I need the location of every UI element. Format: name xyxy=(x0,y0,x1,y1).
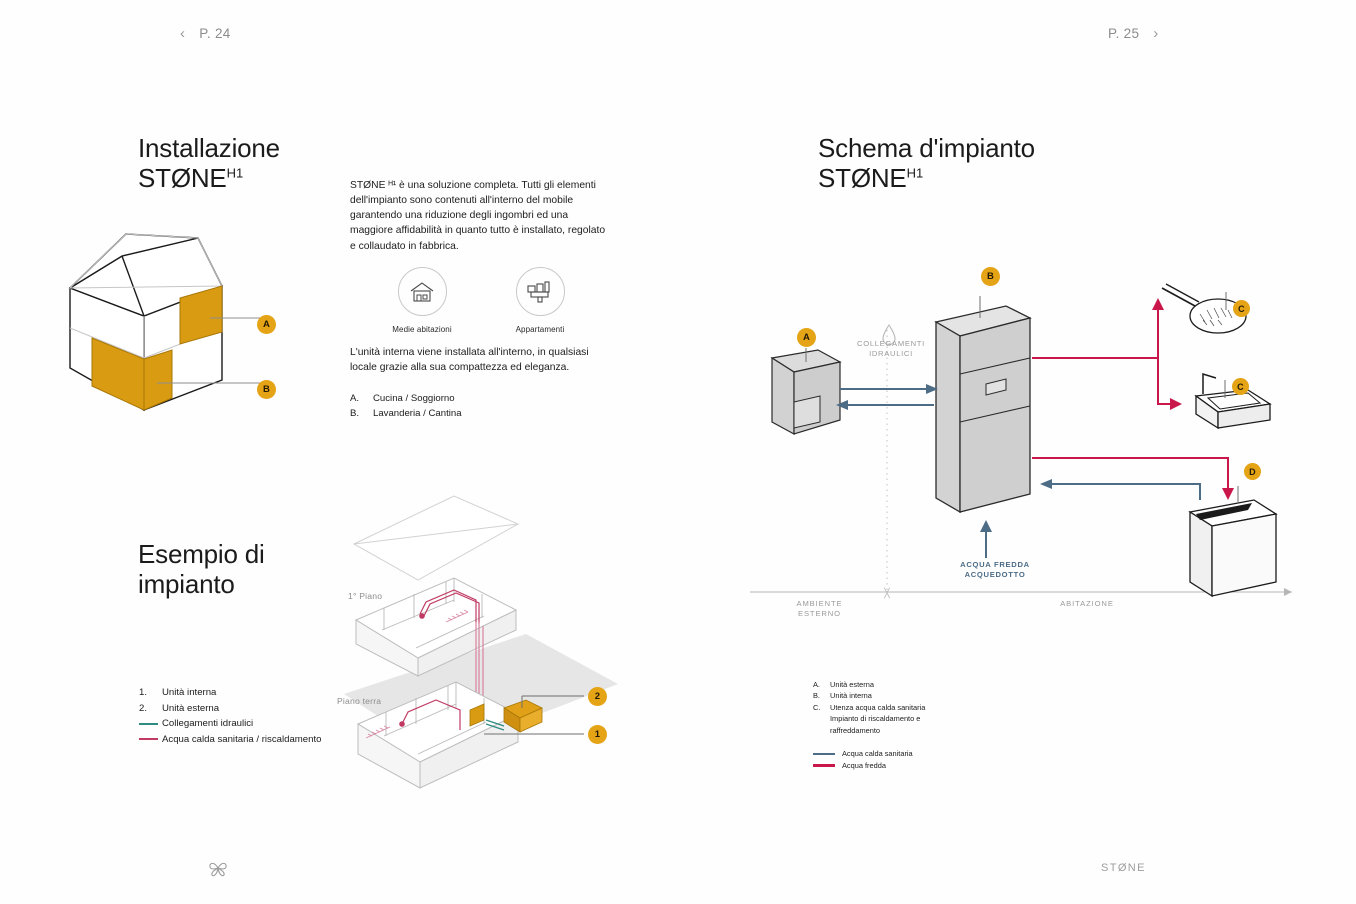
legend-left: 1. Unità interna 2. Unità esterna Colleg… xyxy=(139,685,321,747)
legend-item-label: Acqua calda sanitaria xyxy=(842,748,913,759)
legend-item-label: Unità esterna xyxy=(162,701,219,717)
badge-c-sink[interactable]: C xyxy=(1232,378,1249,395)
label-acqua-fredda-acquedotto: ACQUA FREDDA ACQUEDOTTO xyxy=(935,560,1055,580)
floor-label-ground: Piano terra xyxy=(337,696,381,706)
page-title-left: Installazione STØNEH1 xyxy=(138,133,280,194)
page-title-left-sup: H1 xyxy=(227,166,244,181)
legend-item: 1. Unità interna xyxy=(139,685,321,701)
legend-item-key: B. xyxy=(813,690,830,701)
legend-item: 2. Unità esterna xyxy=(139,701,321,717)
chevron-left-icon[interactable]: ‹ xyxy=(180,26,185,41)
usage-icon-appartamenti: Appartamenti xyxy=(510,267,570,334)
legend-item-label: Acqua fredda xyxy=(842,760,886,771)
badge-b[interactable]: B xyxy=(981,267,1000,286)
isometric-house-illustration xyxy=(52,228,312,438)
legend-item: A. Unità esterna xyxy=(813,679,925,690)
intro-paragraph: STØNE ᴴ¹ è una soluzione completa. Tutti… xyxy=(350,178,612,254)
exploded-building-diagram xyxy=(336,462,626,842)
legend-item: Acqua calda sanitaria / riscaldamento xyxy=(139,732,321,748)
page-title-right-sup: H1 xyxy=(907,166,924,181)
badge-d[interactable]: D xyxy=(1244,463,1261,480)
legend-item-label: Unità interna xyxy=(162,685,216,701)
page-title-right-text: Schema d'impianto STØNE xyxy=(818,133,1035,193)
legend-swatch-hot-water xyxy=(139,738,158,740)
legend-swatch-acqua-fredda xyxy=(813,764,835,766)
list-item-key: B. xyxy=(350,407,373,422)
badge-plan-1[interactable]: 1 xyxy=(588,725,607,744)
document-page: ‹ P. 24 P. 25 › Installazione STØNEH1 A … xyxy=(0,0,1356,904)
axis-label-ambiente-esterno: AMBIENTE ESTERNO xyxy=(762,599,877,619)
list-item-label: Lavanderia / Cantina xyxy=(373,407,462,422)
legend-item-key: 1. xyxy=(139,685,162,701)
badge-plan-2[interactable]: 2 xyxy=(588,687,607,706)
legend-item-key: A. xyxy=(813,679,830,690)
badge-house-a[interactable]: A xyxy=(257,315,276,334)
legend-item-label: Acqua calda sanitaria / riscaldamento xyxy=(162,732,321,748)
legend-item: Acqua calda sanitaria xyxy=(813,748,925,759)
page-number-right: P. 25 xyxy=(1108,26,1139,41)
intro-paragraph-text: STØNE ᴴ¹ è una soluzione completa. Tutti… xyxy=(350,178,612,254)
legend-item: Collegamenti idraulici xyxy=(139,716,321,732)
note-paragraph-text: L'unità interna viene installata all'int… xyxy=(350,345,612,375)
legend-item-key: C. xyxy=(813,702,830,736)
legend-swatch-hydraulic xyxy=(139,723,158,725)
legend-item-label: Collegamenti idraulici xyxy=(162,716,253,732)
pager-right: P. 25 › xyxy=(1108,26,1159,41)
footer-brand: STØNE xyxy=(1101,862,1146,874)
legend-item: Acqua fredda xyxy=(813,760,925,771)
floor-label-first: 1° Piano xyxy=(348,591,382,601)
butterfly-logo-icon xyxy=(207,858,229,878)
page-title-left-text: Installazione STØNE xyxy=(138,133,280,193)
usage-icon-caption: Appartamenti xyxy=(510,325,570,334)
usage-icon-caption: Medie abitazioni xyxy=(392,325,452,334)
badge-c-shower[interactable]: C xyxy=(1233,300,1250,317)
apartments-icon xyxy=(516,267,565,316)
pager-left: ‹ P. 24 xyxy=(180,26,231,41)
legend-item-label: Unità interna xyxy=(830,690,872,701)
usage-icons: Medie abitazioni Appartamenti xyxy=(392,267,570,334)
list-item: A. Cucina / Soggiorno xyxy=(350,392,462,407)
list-item: B. Lavanderia / Cantina xyxy=(350,407,462,422)
legend-item: C. Utenza acqua calda sanitaria Impianto… xyxy=(813,702,925,736)
page-title-left-2: Esempio di impianto xyxy=(138,539,265,600)
note-paragraph: L'unità interna viene installata all'int… xyxy=(350,345,612,375)
room-letter-list: A. Cucina / Soggiorno B. Lavanderia / Ca… xyxy=(350,392,462,422)
chevron-right-icon[interactable]: › xyxy=(1153,26,1158,41)
list-item-label: Cucina / Soggiorno xyxy=(373,392,455,407)
axis-label-abitazione: ABITAZIONE xyxy=(1027,599,1147,609)
badge-a[interactable]: A xyxy=(797,328,816,347)
label-collegamenti-idraulici: COLLEGAMENTI IDRAULICI xyxy=(838,339,944,359)
system-schematic-diagram: ╳ xyxy=(748,262,1300,610)
legend-item-label: Utenza acqua calda sanitaria Impianto di… xyxy=(830,702,925,736)
page-title-right: Schema d'impianto STØNEH1 xyxy=(818,133,1035,194)
usage-icon-medie-abitazioni: Medie abitazioni xyxy=(392,267,452,334)
svg-text:╳: ╳ xyxy=(883,587,890,599)
legend-swatch-acqua-calda xyxy=(813,753,835,755)
legend-item: B. Unità interna xyxy=(813,690,925,701)
house-icon xyxy=(398,267,447,316)
list-item-key: A. xyxy=(350,392,373,407)
legend-item-key: 2. xyxy=(139,701,162,717)
badge-house-b[interactable]: B xyxy=(257,380,276,399)
legend-item-label: Unità esterna xyxy=(830,679,874,690)
page-number-left: P. 24 xyxy=(199,26,230,41)
legend-right: A. Unità esterna B. Unità interna C. Ute… xyxy=(813,679,925,771)
